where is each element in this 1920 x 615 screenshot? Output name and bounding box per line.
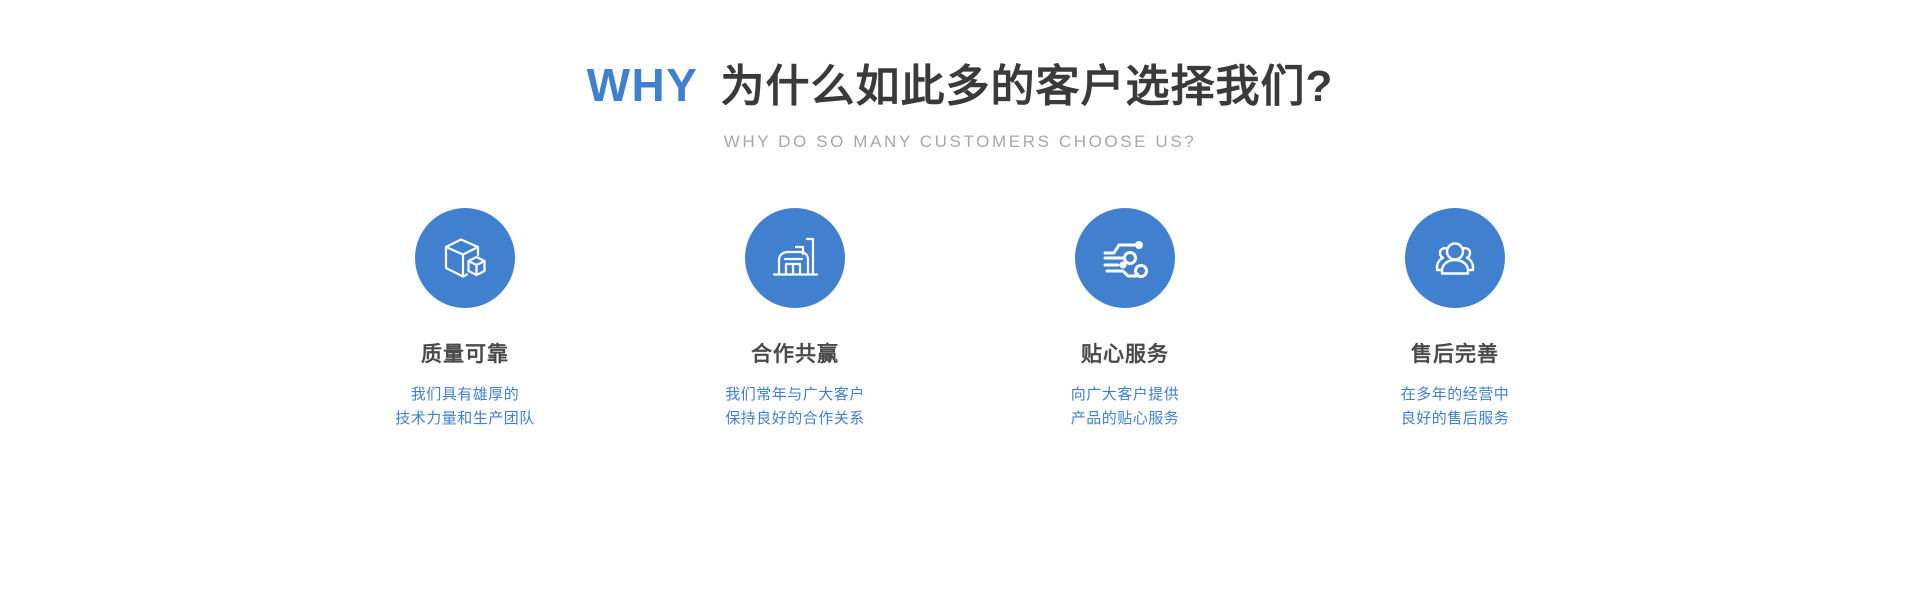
headline-prefix-en: WHY <box>587 62 699 108</box>
feature-description: 我们常年与广大客户 保持良好的合作关系 <box>725 383 865 431</box>
page-title: WHY 为什么如此多的客户选择我们? <box>0 62 1920 109</box>
why-choose-us-section: WHY 为什么如此多的客户选择我们? WHY DO SO MANY CUSTOM… <box>0 0 1920 615</box>
feature-icon-circle <box>415 208 515 308</box>
headline-title-cn: 为什么如此多的客户选择我们? <box>720 65 1333 109</box>
feature-title: 售后完善 <box>1411 342 1499 367</box>
feature-icon-circle <box>745 208 845 308</box>
feature-item-service[interactable]: 贴心服务 向广大客户提供 产品的贴心服务 <box>1025 208 1225 431</box>
feature-item-quality[interactable]: 质量可靠 我们具有雄厚的 技术力量和生产团队 <box>365 208 565 431</box>
feature-description: 在多年的经营中 良好的售后服务 <box>1401 383 1510 431</box>
feature-item-cooperation[interactable]: 合作共赢 我们常年与广大客户 保持良好的合作关系 <box>695 208 895 431</box>
feature-description-line: 良好的售后服务 <box>1401 407 1510 431</box>
feature-list: 质量可靠 我们具有雄厚的 技术力量和生产团队 <box>365 208 1555 431</box>
feature-icon-circle <box>1075 208 1175 308</box>
feature-description-line: 产品的贴心服务 <box>1071 407 1180 431</box>
feature-title: 质量可靠 <box>421 342 509 367</box>
factory-icon <box>767 230 823 286</box>
feature-description-line: 向广大客户提供 <box>1071 383 1180 407</box>
feature-description-line: 保持良好的合作关系 <box>725 407 865 431</box>
heading-block: WHY 为什么如此多的客户选择我们? WHY DO SO MANY CUSTOM… <box>0 62 1920 152</box>
page-subtitle: WHY DO SO MANY CUSTOMERS CHOOSE US? <box>0 132 1920 152</box>
feature-description: 向广大客户提供 产品的贴心服务 <box>1071 383 1180 431</box>
feature-title: 合作共赢 <box>751 342 839 367</box>
feature-description-line: 我们具有雄厚的 <box>395 383 535 407</box>
feature-description-line: 在多年的经营中 <box>1401 383 1510 407</box>
feature-description: 我们具有雄厚的 技术力量和生产团队 <box>395 383 535 431</box>
circuit-nodes-icon <box>1097 230 1153 286</box>
feature-title: 贴心服务 <box>1081 342 1169 367</box>
feature-description-line: 我们常年与广大客户 <box>725 383 865 407</box>
users-group-icon <box>1427 230 1483 286</box>
feature-icon-circle <box>1405 208 1505 308</box>
feature-item-aftersales[interactable]: 售后完善 在多年的经营中 良好的售后服务 <box>1355 208 1555 431</box>
package-box-icon <box>437 230 493 286</box>
feature-description-line: 技术力量和生产团队 <box>395 407 535 431</box>
